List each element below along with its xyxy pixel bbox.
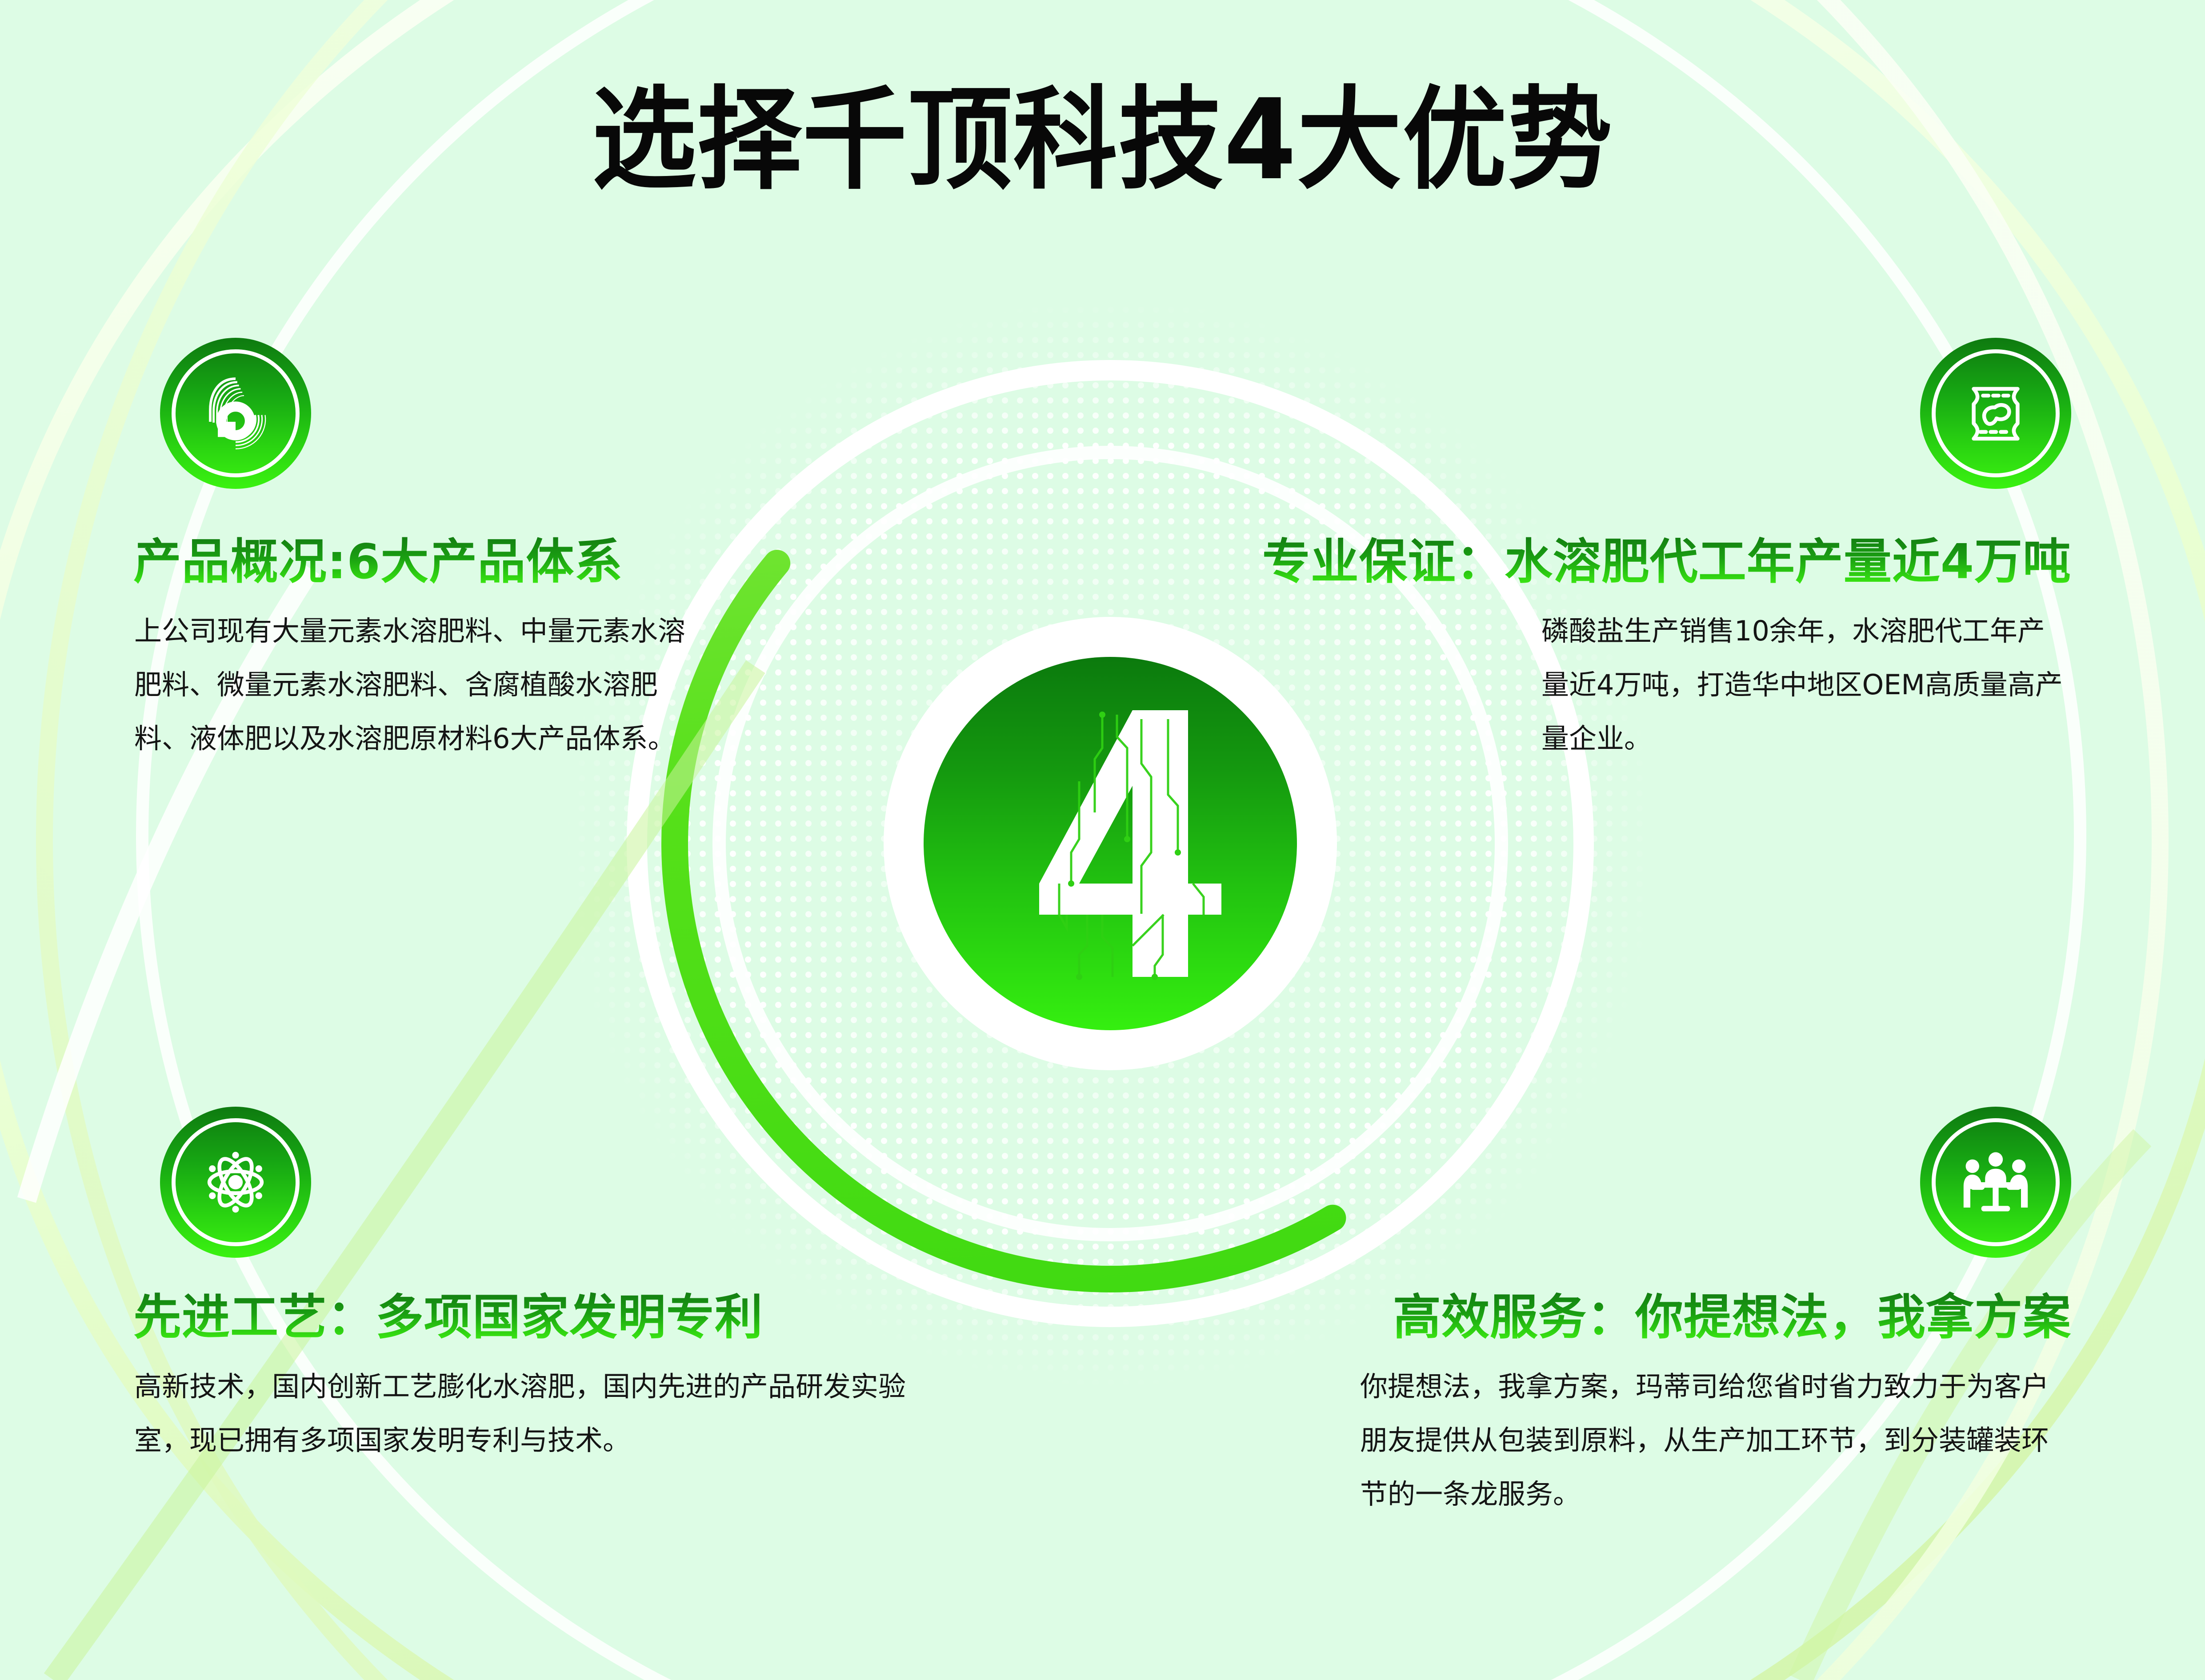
number-six-spiral-icon [160, 338, 311, 489]
number-six-glyph [193, 371, 278, 456]
atom-icon [160, 1107, 311, 1258]
advantage-body-bottom-right: 你提想法，我拿方案，玛蒂司给您省时省力致力于为客户朋友提供从包装到原料，从生产加… [1360, 1360, 2071, 1521]
advantage-icon-wrap-top-left [160, 338, 311, 489]
advantage-icon-wrap-bottom-right [1920, 1107, 2071, 1258]
advantage-body-bottom-left: 高新技术，国内创新工艺膨化水溶肥，国内先进的产品研发实验室，现已拥有多项国家发明… [134, 1360, 908, 1468]
advantage-heading-top-left: 产品概况:6大产品体系 [133, 536, 623, 589]
fertilizer-bag-glyph [1953, 371, 2038, 456]
fertilizer-bag-icon [1920, 338, 2071, 489]
page-title: 选择千顶科技4大优势 [66, 84, 2139, 196]
meeting-people-icon [1920, 1107, 2071, 1258]
center-medallion [884, 617, 1337, 1070]
advantage-body-top-left: 上公司现有大量元素水溶肥料、中量元素水溶肥料、微量元素水溶肥料、含腐植酸水溶肥料… [134, 604, 699, 766]
advantage-body-top-right: 磷酸盐生产销售10余年，水溶肥代工年产量近4万吨，打造华中地区OEM高质量高产量… [1541, 604, 2070, 766]
diagonal-streak-bottom-left [53, 667, 756, 1680]
atom-glyph [193, 1140, 278, 1224]
advantage-icon-wrap-top-right [1920, 338, 2071, 489]
advantage-icon-wrap-bottom-left [160, 1107, 311, 1258]
meeting-people-glyph [1953, 1140, 2038, 1224]
advantage-heading-bottom-left: 先进工艺：多项国家发明专利 [133, 1291, 763, 1345]
advantage-heading-bottom-right: 高效服务：你提想法，我拿方案 [1393, 1291, 2071, 1345]
circuit-number-four-icon [986, 706, 1235, 981]
advantage-heading-top-right: 专业保证：水溶肥代工年产量近4万吨 [1262, 536, 2071, 589]
